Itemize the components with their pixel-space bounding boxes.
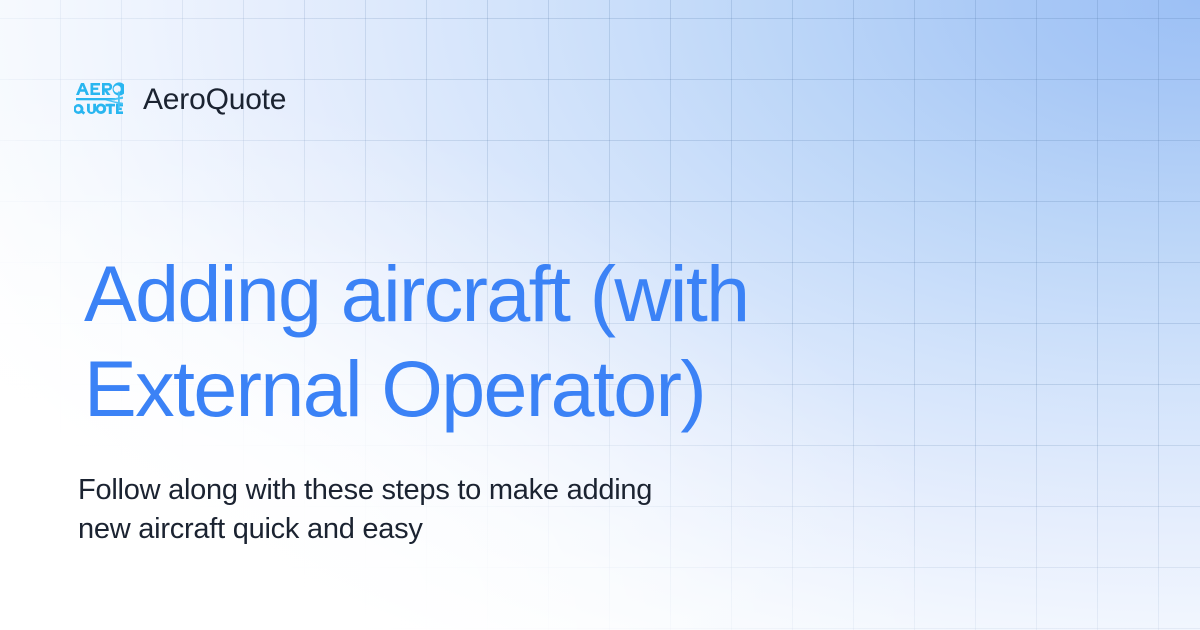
aeroquote-plane-logo-icon	[74, 80, 124, 120]
og-card: AeroQuote Adding aircraft (with External…	[0, 0, 1200, 630]
brand-name: AeroQuote	[143, 85, 286, 115]
brand-lockup: AeroQuote	[74, 80, 286, 120]
page-title: Adding aircraft (with External Operator)	[84, 246, 1044, 436]
page-subtitle-line-2: new aircraft quick and easy	[78, 510, 918, 549]
page-subtitle-line-1: Follow along with these steps to make ad…	[78, 471, 918, 510]
page-title-line-1: Adding aircraft (with	[84, 246, 1044, 341]
page-title-line-2: External Operator)	[84, 341, 1044, 436]
page-subtitle: Follow along with these steps to make ad…	[78, 471, 918, 549]
